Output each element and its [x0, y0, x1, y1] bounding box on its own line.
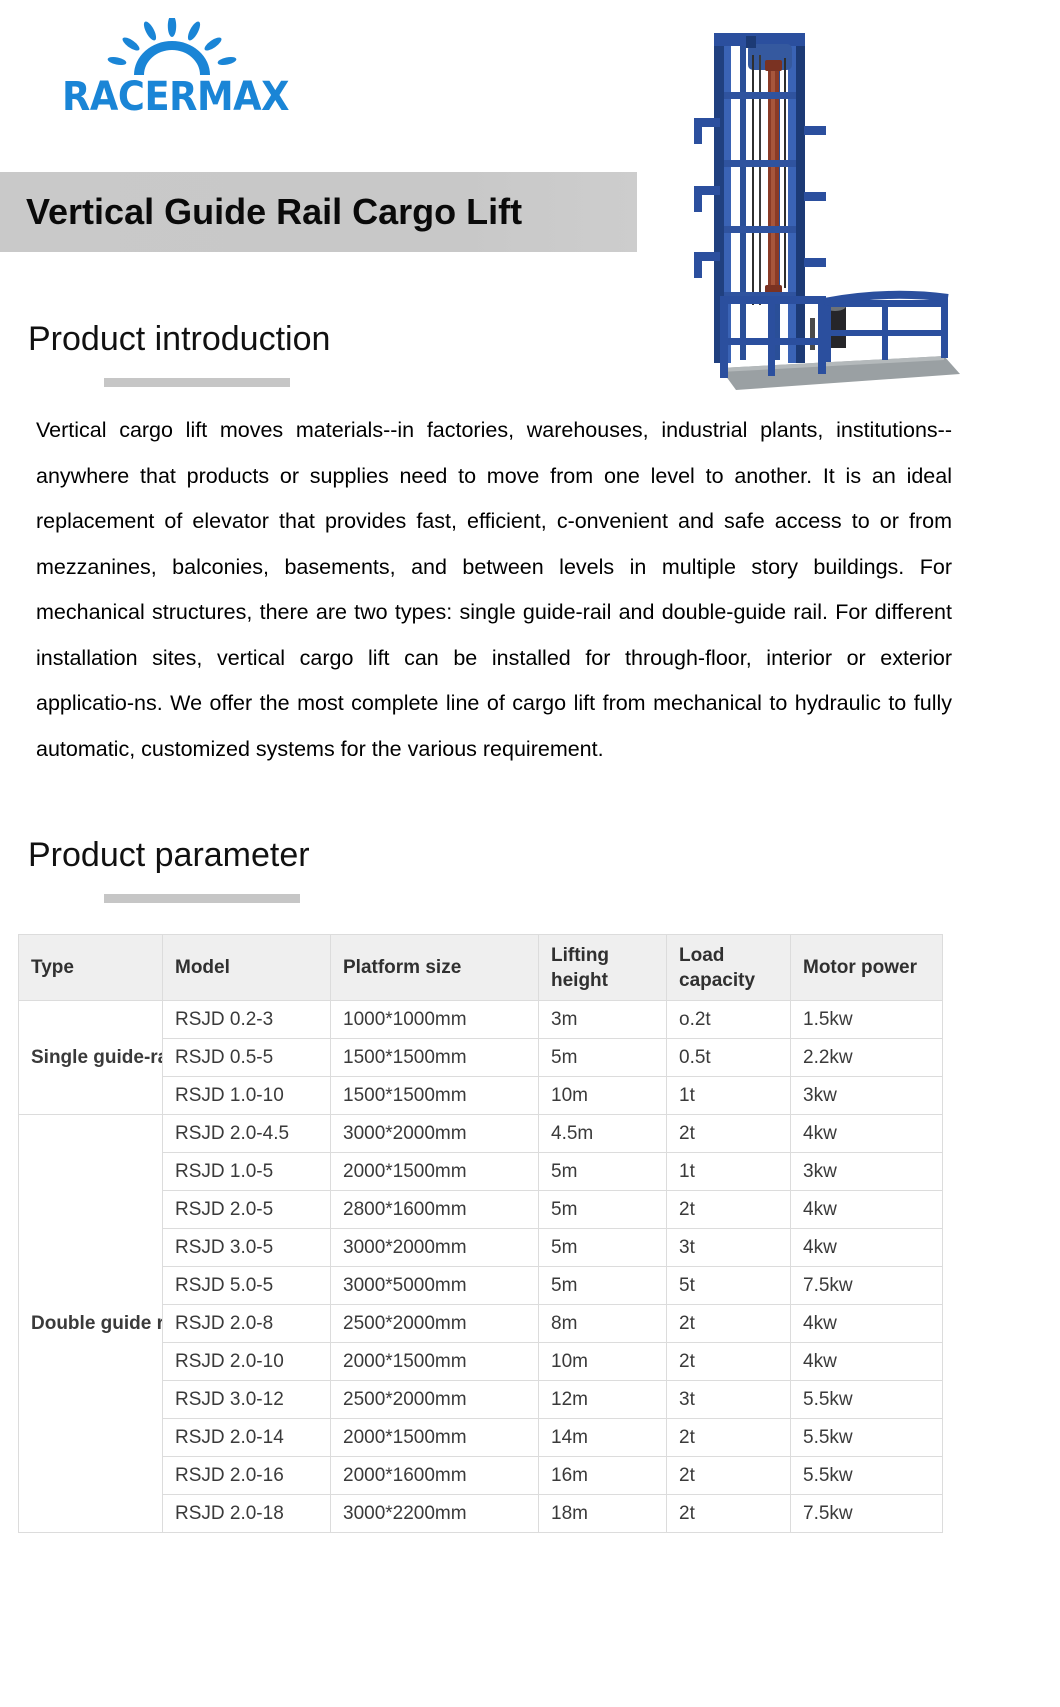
cell-type-0: Single guide-rail: [19, 1001, 163, 1115]
cell-lifting-height: 18m: [539, 1495, 667, 1533]
cell-model: RSJD 1.0-10: [163, 1077, 331, 1115]
cell-model: RSJD 0.5-5: [163, 1039, 331, 1077]
cell-motor-power: 4kw: [791, 1305, 943, 1343]
cell-load-capacity: 2t: [667, 1115, 791, 1153]
cell-platform-size: 2000*1500mm: [331, 1153, 539, 1191]
cell-lifting-height: 3m: [539, 1001, 667, 1039]
column-header-load-capacity: Load capacity: [667, 935, 791, 1001]
table-body: Single guide-railRSJD 0.2-31000*1000mm3m…: [19, 1001, 943, 1533]
cell-model: RSJD 2.0-4.5: [163, 1115, 331, 1153]
cell-lifting-height: 16m: [539, 1457, 667, 1495]
cell-load-capacity: 2t: [667, 1457, 791, 1495]
cell-lifting-height: 5m: [539, 1153, 667, 1191]
cell-motor-power: 4kw: [791, 1229, 943, 1267]
cell-model: RSJD 1.0-5: [163, 1153, 331, 1191]
cell-lifting-height: 12m: [539, 1381, 667, 1419]
cell-load-capacity: 5t: [667, 1267, 791, 1305]
parameter-table-container: Type Model Platform size Lifting height …: [18, 934, 942, 1533]
heading-rule-parameter: [104, 894, 300, 903]
cell-lifting-height: 4.5m: [539, 1115, 667, 1153]
cell-load-capacity: 3t: [667, 1229, 791, 1267]
table-row: Double guide railRSJD 2.0-4.53000*2000mm…: [19, 1115, 943, 1153]
page-title-banner: Vertical Guide Rail Cargo Lift: [0, 172, 637, 252]
column-header-model: Model: [163, 935, 331, 1001]
introduction-body-text: Vertical cargo lift moves materials--in …: [36, 408, 952, 772]
column-header-lifting-height: Lifting height: [539, 935, 667, 1001]
cell-load-capacity: 2t: [667, 1495, 791, 1533]
cell-load-capacity: 1t: [667, 1153, 791, 1191]
cell-load-capacity: 0.5t: [667, 1039, 791, 1077]
parameter-table: Type Model Platform size Lifting height …: [18, 934, 943, 1533]
heading-rule-introduction: [104, 378, 290, 387]
cell-lifting-height: 5m: [539, 1267, 667, 1305]
cell-model: RSJD 5.0-5: [163, 1267, 331, 1305]
product-photo: [628, 0, 968, 400]
cell-model: RSJD 2.0-10: [163, 1343, 331, 1381]
cell-lifting-height: 10m: [539, 1077, 667, 1115]
cell-platform-size: 2000*1500mm: [331, 1343, 539, 1381]
cell-load-capacity: o.2t: [667, 1001, 791, 1039]
cell-platform-size: 2000*1500mm: [331, 1419, 539, 1457]
cell-model: RSJD 2.0-5: [163, 1191, 331, 1229]
cell-platform-size: 3000*2200mm: [331, 1495, 539, 1533]
cell-model: RSJD 3.0-12: [163, 1381, 331, 1419]
cell-motor-power: 7.5kw: [791, 1267, 943, 1305]
cell-motor-power: 4kw: [791, 1343, 943, 1381]
cell-motor-power: 5.5kw: [791, 1381, 943, 1419]
cell-model: RSJD 3.0-5: [163, 1229, 331, 1267]
cell-lifting-height: 14m: [539, 1419, 667, 1457]
cell-platform-size: 3000*2000mm: [331, 1115, 539, 1153]
cell-platform-size: 2000*1600mm: [331, 1457, 539, 1495]
cell-model: RSJD 2.0-8: [163, 1305, 331, 1343]
cell-load-capacity: 2t: [667, 1343, 791, 1381]
cell-motor-power: 4kw: [791, 1115, 943, 1153]
cell-model: RSJD 0.2-3: [163, 1001, 331, 1039]
cell-platform-size: 1500*1500mm: [331, 1039, 539, 1077]
cell-load-capacity: 2t: [667, 1419, 791, 1457]
cell-platform-size: 1000*1000mm: [331, 1001, 539, 1039]
sunburst-icon: [106, 18, 238, 76]
cell-platform-size: 3000*2000mm: [331, 1229, 539, 1267]
cell-lifting-height: 5m: [539, 1039, 667, 1077]
cell-lifting-height: 5m: [539, 1191, 667, 1229]
cell-model: RSJD 2.0-14: [163, 1419, 331, 1457]
page-title: Vertical Guide Rail Cargo Lift: [0, 191, 522, 233]
table-row: Single guide-railRSJD 0.2-31000*1000mm3m…: [19, 1001, 943, 1039]
section-heading-introduction: Product introduction: [28, 320, 330, 359]
cell-load-capacity: 2t: [667, 1191, 791, 1229]
cell-load-capacity: 2t: [667, 1305, 791, 1343]
cell-lifting-height: 10m: [539, 1343, 667, 1381]
cell-motor-power: 5.5kw: [791, 1457, 943, 1495]
cell-model: RSJD 2.0-18: [163, 1495, 331, 1533]
cell-motor-power: 1.5kw: [791, 1001, 943, 1039]
column-header-motor-power: Motor power: [791, 935, 943, 1001]
cell-platform-size: 2800*1600mm: [331, 1191, 539, 1229]
cell-type-1: Double guide rail: [19, 1115, 163, 1533]
cell-motor-power: 5.5kw: [791, 1419, 943, 1457]
brand-wordmark: RACERMAX: [62, 74, 301, 120]
cell-platform-size: 1500*1500mm: [331, 1077, 539, 1115]
cell-motor-power: 3kw: [791, 1077, 943, 1115]
brand-logo: RACERMAX: [62, 18, 322, 128]
cell-platform-size: 2500*2000mm: [331, 1381, 539, 1419]
cell-motor-power: 4kw: [791, 1191, 943, 1229]
column-header-type: Type: [19, 935, 163, 1001]
cell-load-capacity: 3t: [667, 1381, 791, 1419]
cell-motor-power: 2.2kw: [791, 1039, 943, 1077]
cell-motor-power: 3kw: [791, 1153, 943, 1191]
column-header-platform-size: Platform size: [331, 935, 539, 1001]
cell-lifting-height: 5m: [539, 1229, 667, 1267]
cell-platform-size: 2500*2000mm: [331, 1305, 539, 1343]
table-header-row: Type Model Platform size Lifting height …: [19, 935, 943, 1001]
section-heading-parameter: Product parameter: [28, 836, 310, 875]
cell-motor-power: 7.5kw: [791, 1495, 943, 1533]
cell-lifting-height: 8m: [539, 1305, 667, 1343]
cell-load-capacity: 1t: [667, 1077, 791, 1115]
cell-platform-size: 3000*5000mm: [331, 1267, 539, 1305]
cell-model: RSJD 2.0-16: [163, 1457, 331, 1495]
